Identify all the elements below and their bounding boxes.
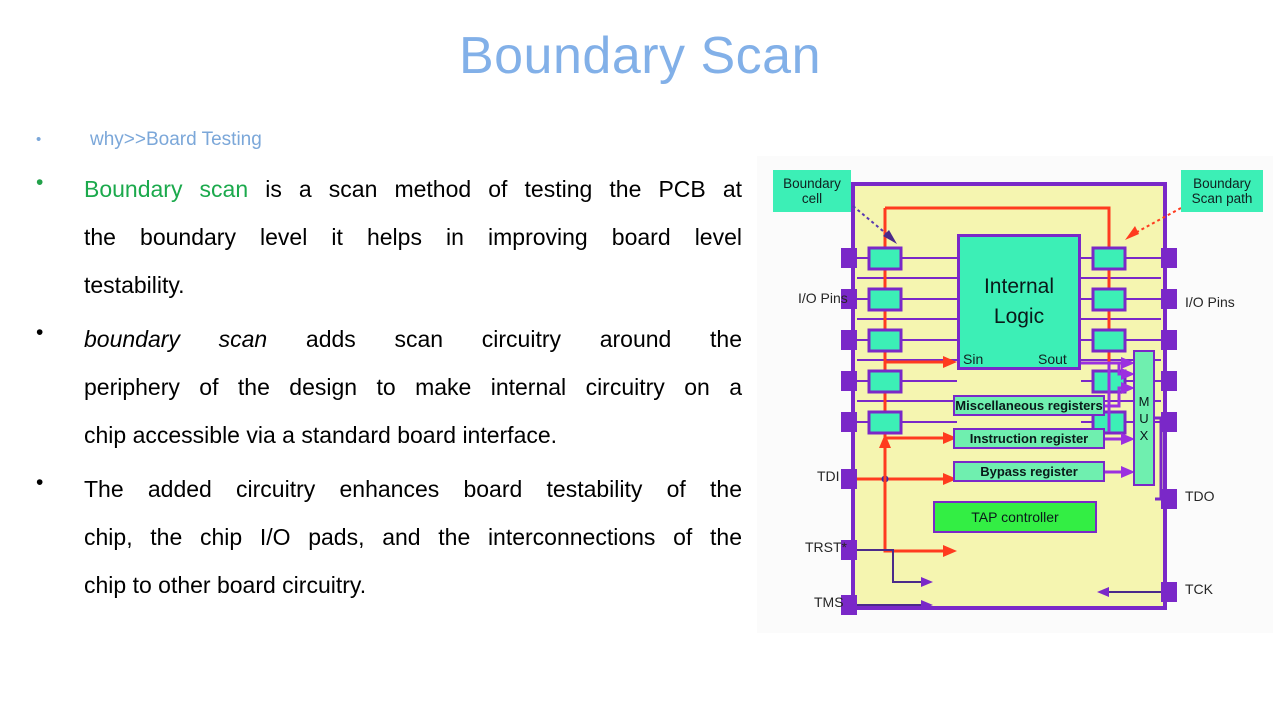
- label-sin: Sin: [963, 351, 983, 367]
- highlight-boundary-scan: Boundary scan: [84, 176, 248, 202]
- callout-line: Scan path: [1192, 191, 1253, 206]
- mux-letter: U: [1139, 410, 1148, 427]
- pin-label-io-left: I/O Pins: [798, 290, 848, 306]
- callout-line: cell: [802, 191, 822, 206]
- bullet-line: why>>Board Testing: [90, 129, 262, 150]
- pin-tdi: [841, 469, 857, 489]
- block-miscellaneous-registers: Miscellaneous registers: [953, 395, 1105, 416]
- bullet-line: chip accessible via a standard board int…: [84, 411, 742, 459]
- pin-label-tms: TMS: [814, 594, 844, 610]
- bullet-line-rest: is a scan method of testing the PCB at: [248, 176, 742, 202]
- label-sout: Sout: [1038, 351, 1067, 367]
- io-pin-left: [841, 248, 857, 268]
- mux-letter: M: [1139, 393, 1150, 410]
- bullet-item-why-board-testing: • why>>Board Testing: [36, 128, 742, 152]
- io-pin-left: [841, 330, 857, 350]
- io-pin-right: [1161, 371, 1177, 391]
- block-tap-controller: TAP controller: [933, 501, 1097, 533]
- internal-logic-line2: Logic: [994, 302, 1044, 332]
- bullet-text: The added circuitry enhances board testa…: [84, 465, 742, 609]
- pin-label-tck: TCK: [1185, 581, 1213, 597]
- page-title: Boundary Scan: [0, 28, 1280, 85]
- io-pin-right: [1161, 412, 1177, 432]
- pin-label-tdi: TDI: [817, 468, 840, 484]
- bullet-marker: •: [36, 465, 84, 493]
- bullet-line: The added circuitry enhances board testa…: [84, 465, 742, 513]
- emphasis-boundary-scan: boundary scan: [84, 326, 267, 352]
- block-mux: M U X: [1133, 350, 1155, 486]
- bullet-line: boundary scan adds scan circuitry around…: [84, 315, 742, 363]
- bullet-line: chip, the chip I/O pads, and the interco…: [84, 513, 742, 561]
- io-pin-left: [841, 412, 857, 432]
- bullet-text: why>>Board Testing: [90, 128, 742, 152]
- pin-label-trst: TRST*: [805, 539, 847, 555]
- bullet-line: the boundary level it helps in improving…: [84, 213, 742, 261]
- callout-boundary-scan-path: Boundary Scan path: [1181, 170, 1263, 212]
- bullet-item-boundary-scan-definition: • Boundary scan is a scan method of test…: [36, 165, 742, 309]
- bullet-text: Boundary scan is a scan method of testin…: [84, 165, 742, 309]
- pin-label-io-right: I/O Pins: [1185, 294, 1235, 310]
- pin-tck: [1161, 582, 1177, 602]
- callout-boundary-cell: Boundary cell: [773, 170, 851, 212]
- io-pin-right: [1161, 330, 1177, 350]
- boundary-scan-diagram: Boundary cell Boundary Scan path I/O Pin…: [757, 156, 1273, 633]
- callout-line: Boundary: [1193, 176, 1251, 191]
- internal-logic-line1: Internal: [984, 272, 1054, 302]
- bullet-marker: •: [36, 315, 84, 343]
- bullet-line-rest: adds scan circuitry around the: [267, 326, 742, 352]
- bullet-marker: •: [36, 128, 90, 147]
- bullet-item-scan-circuitry: • boundary scan adds scan circuitry arou…: [36, 315, 742, 459]
- bullet-marker: •: [36, 165, 84, 193]
- io-pin-right: [1161, 289, 1177, 309]
- mux-letter: X: [1140, 427, 1149, 444]
- bullet-line: periphery of the design to make internal…: [84, 363, 742, 411]
- bullet-item-added-circuitry: • The added circuitry enhances board tes…: [36, 465, 742, 609]
- bullet-line: chip to other board circuitry.: [84, 561, 742, 609]
- bullet-line: testability.: [84, 261, 742, 309]
- pin-label-tdo: TDO: [1185, 488, 1215, 504]
- bullet-text: boundary scan adds scan circuitry around…: [84, 315, 742, 459]
- body-text-column: • why>>Board Testing • Boundary scan is …: [36, 128, 742, 609]
- callout-line: Boundary: [783, 176, 841, 191]
- io-pin-right: [1161, 248, 1177, 268]
- block-internal-logic: Internal Logic: [957, 234, 1081, 370]
- block-bypass-register: Bypass register: [953, 461, 1105, 482]
- io-pin-left: [841, 371, 857, 391]
- bullet-line: Boundary scan is a scan method of testin…: [84, 165, 742, 213]
- block-instruction-register: Instruction register: [953, 428, 1105, 449]
